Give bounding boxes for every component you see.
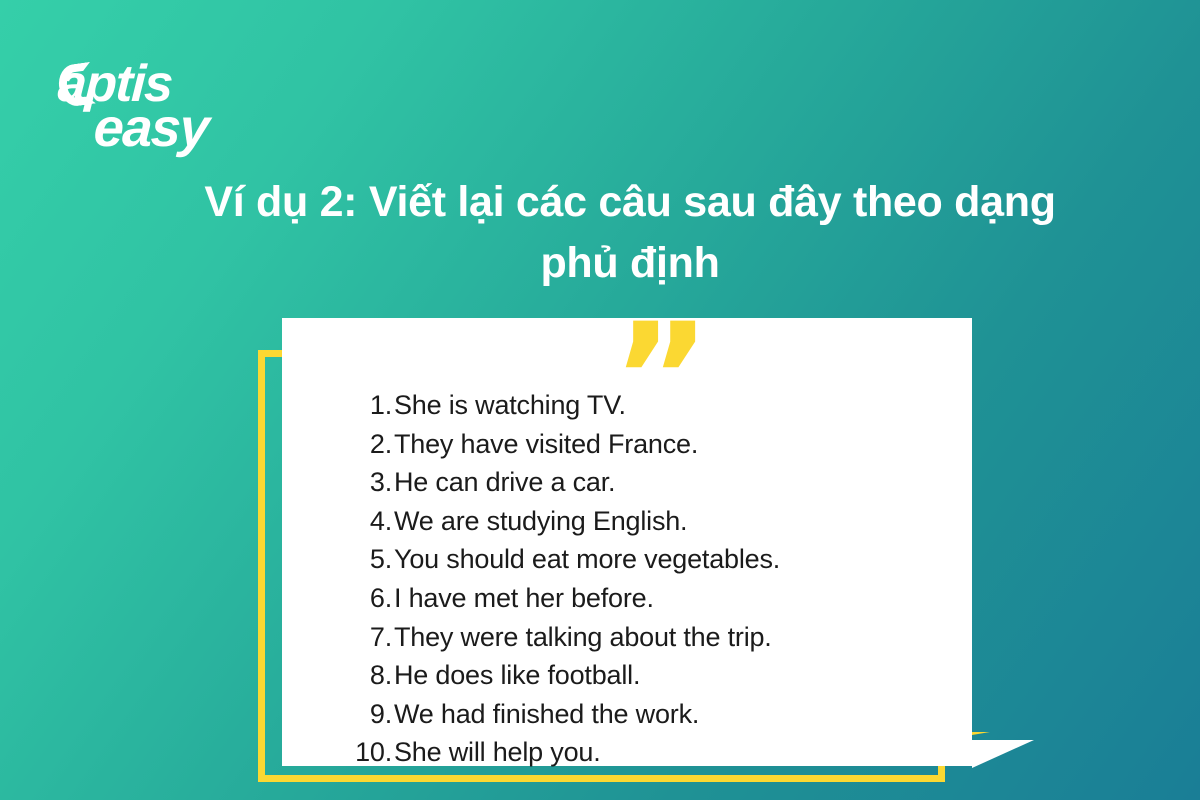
list-item-number: 5. <box>342 540 394 579</box>
list-item: 8.He does like football. <box>342 656 962 695</box>
list-item-text: She will help you. <box>394 733 962 772</box>
list-item-text: I have met her before. <box>394 579 962 618</box>
list-item-number: 7. <box>342 618 394 657</box>
list-item-text: He can drive a car. <box>394 463 962 502</box>
page-title: Ví dụ 2: Viết lại các câu sau đây theo d… <box>110 172 1150 294</box>
list-item-text: You should eat more vegetables. <box>394 540 962 579</box>
list-item-number: 2. <box>342 425 394 464</box>
list-item-text: They were talking about the trip. <box>394 618 962 657</box>
list-item-number: 4. <box>342 502 394 541</box>
list-item: 6.I have met her before. <box>342 579 962 618</box>
list-item-number: 9. <box>342 695 394 734</box>
list-item-number: 10. <box>342 733 394 772</box>
list-item-text: We are studying English. <box>394 502 962 541</box>
logo-line-two: easy <box>93 101 210 155</box>
brand-logo: aptis easy <box>58 58 233 163</box>
slide-canvas: aptis easy Ví dụ 2: Viết lại các câu sau… <box>0 0 1200 800</box>
sentence-card: 1.She is watching TV.2.They have visited… <box>240 300 1040 800</box>
list-item-number: 6. <box>342 579 394 618</box>
list-item-text: We had finished the work. <box>394 695 962 734</box>
list-item-number: 8. <box>342 656 394 695</box>
page-title-line-one: Ví dụ 2: Viết lại các câu sau đây theo d… <box>110 172 1150 233</box>
list-item-number: 3. <box>342 463 394 502</box>
list-item: 4.We are studying English. <box>342 502 962 541</box>
list-item-text: He does like football. <box>394 656 962 695</box>
list-item: 10.She will help you. <box>342 733 962 772</box>
list-item: 5.You should eat more vegetables. <box>342 540 962 579</box>
list-item-number: 1. <box>342 386 394 425</box>
list-item: 3.He can drive a car. <box>342 463 962 502</box>
quotation-mark-icon: ” <box>612 304 707 454</box>
list-item: 7.They were talking about the trip. <box>342 618 962 657</box>
page-title-line-two: phủ định <box>110 233 1150 294</box>
speech-bubble-tail <box>972 740 1034 768</box>
list-item: 9.We had finished the work. <box>342 695 962 734</box>
